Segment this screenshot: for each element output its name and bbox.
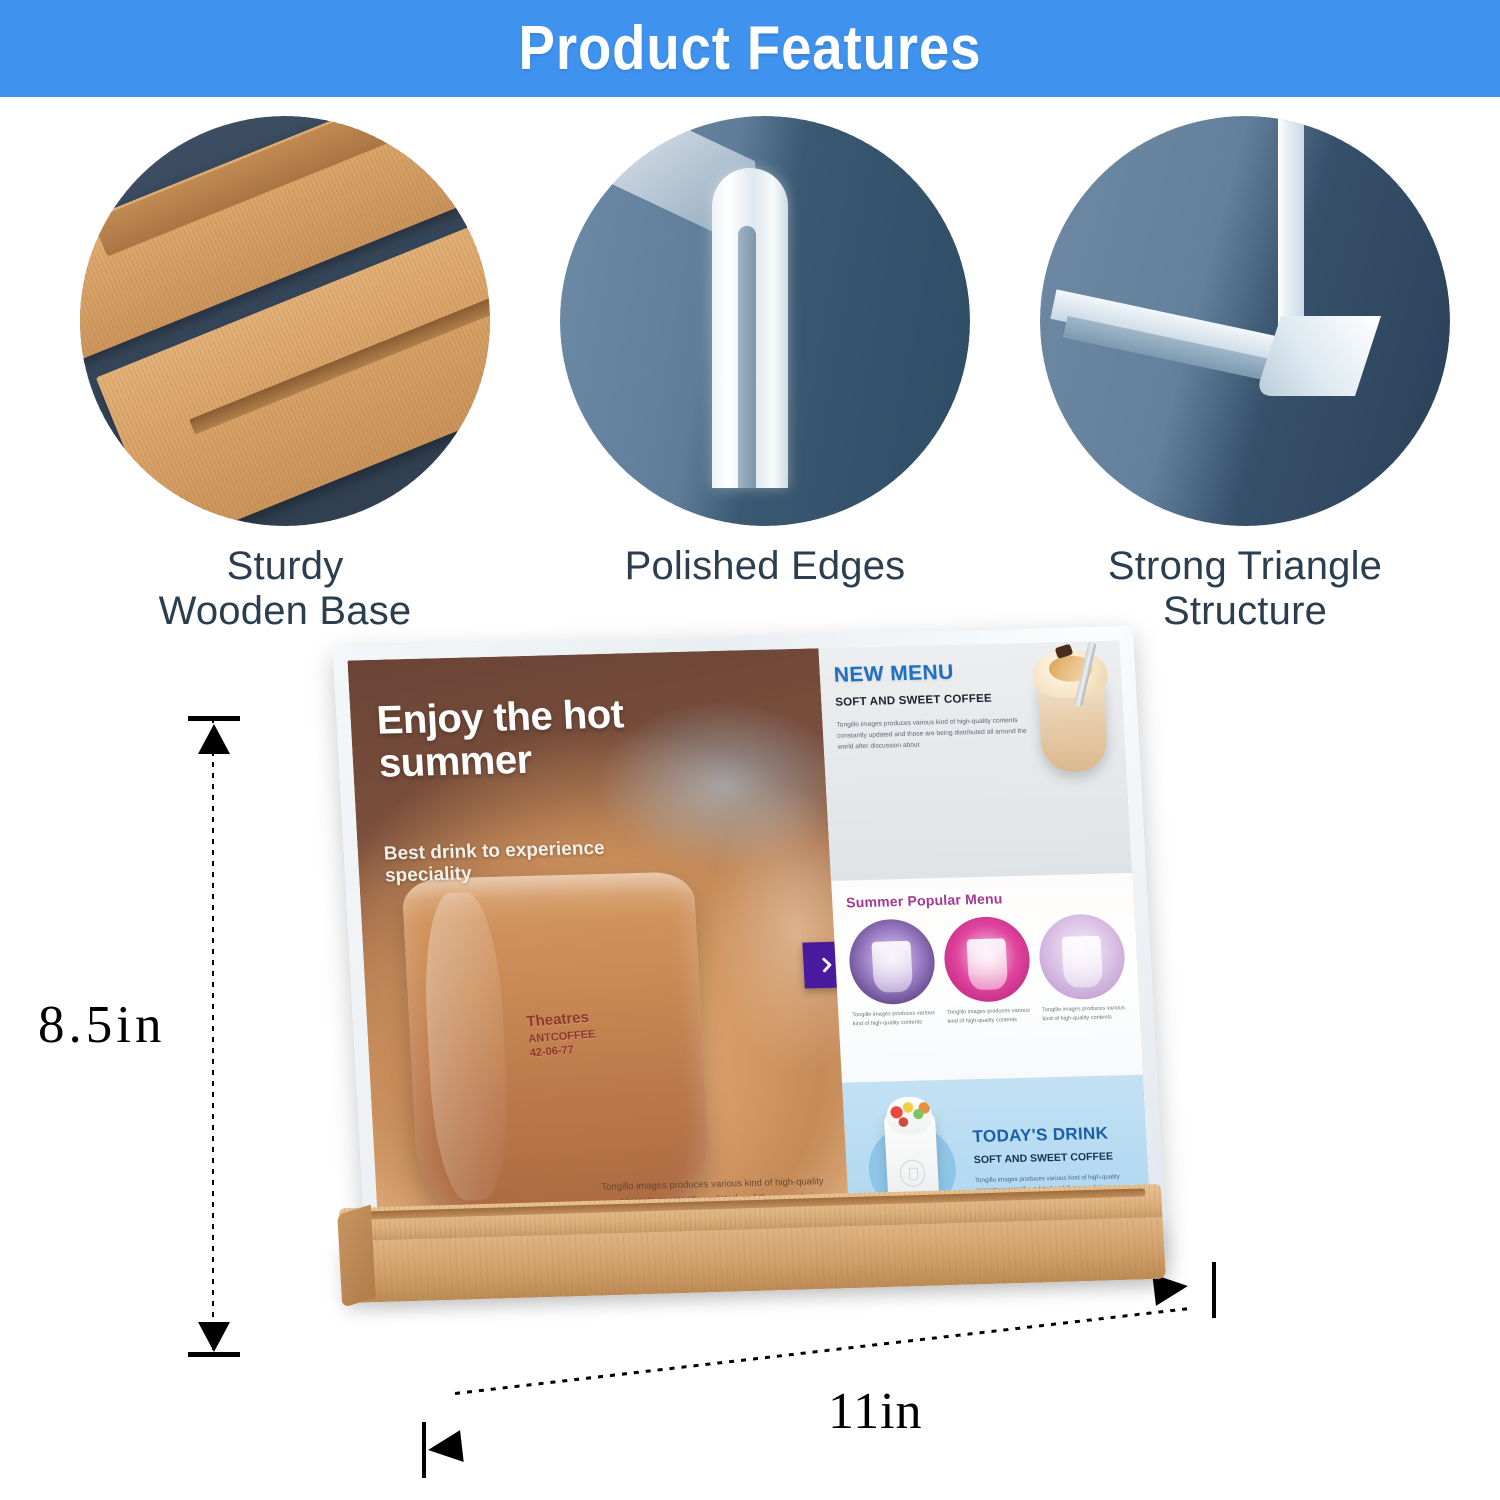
latte-photo <box>1021 640 1125 786</box>
drink-photo-purple <box>847 918 937 1005</box>
todays-drink-title: TODAY'S DRINK <box>972 1123 1135 1147</box>
summer-menu-item: Tongillo images produces various kind of… <box>847 918 938 1029</box>
product-photo: Theatres ANTCOFFEE 42-06-77 Enjoy the ho… <box>332 626 1222 1426</box>
drink-photo-magenta <box>942 915 1032 1002</box>
arrow-up-icon <box>198 724 230 754</box>
feature-label-wooden-base: Sturdy Wooden Base <box>159 544 412 634</box>
feature-label-line1: Sturdy <box>159 544 412 589</box>
glass-print-text: Theatres ANTCOFFEE 42-06-77 <box>526 1007 598 1060</box>
fruit-topping <box>886 1096 933 1136</box>
drink-caption: Tongillo images produces various kind of… <box>947 1006 1033 1026</box>
wooden-base <box>339 1184 1167 1324</box>
section-summer-popular-menu: Summer Popular Menu Tongillo images prod… <box>831 873 1143 1083</box>
acrylic-edge-closeup-icon <box>560 116 970 526</box>
height-label: 8.5in <box>38 995 165 1055</box>
poster-headline: Enjoy the hot summer <box>375 689 766 785</box>
feature-strong-triangle-structure: Strong Triangle Structure <box>1010 108 1480 653</box>
acrylic-corner-closeup-icon <box>1040 116 1450 526</box>
feature-label-polished-edges: Polished Edges <box>625 544 906 589</box>
base-left-end <box>337 1204 375 1308</box>
drink-photo-pink <box>1037 913 1127 1000</box>
height-cap-bottom <box>188 1352 240 1357</box>
poster-insert: Theatres ANTCOFFEE 42-06-77 Enjoy the ho… <box>347 640 1152 1271</box>
feature-row: Sturdy Wooden Base Polished Edges <box>0 108 1500 653</box>
cup-logo-icon <box>900 1160 926 1187</box>
feature-label-line1: Strong Triangle <box>1108 544 1382 589</box>
wood-closeup-icon <box>80 116 490 526</box>
height-cap-top <box>188 716 240 721</box>
page-title: Product Features <box>519 13 982 84</box>
feature-image-triangle-structure <box>1040 116 1450 526</box>
feature-label-line1: Polished Edges <box>625 544 906 589</box>
drink-caption: Tongillo images produces various kind of… <box>852 1009 938 1029</box>
poster-right-panel: NEW MENU SOFT AND SWEET COFFEE Tongillo … <box>818 640 1152 1259</box>
todays-drink-subtitle: SOFT AND SWEET COFFEE <box>974 1150 1136 1168</box>
drink-caption: Tongillo images produces various kind of… <box>1042 1004 1128 1024</box>
feature-image-polished-edges <box>560 116 970 526</box>
summer-menu-title: Summer Popular Menu <box>846 887 1122 910</box>
feature-polished-edges: Polished Edges <box>530 108 1000 653</box>
poster-subheadline: Best drink to experience speciality <box>383 836 677 889</box>
width-label: 11in <box>828 1382 923 1441</box>
summer-menu-items: Tongillo images produces various kind of… <box>847 913 1128 1029</box>
feature-image-wooden-base <box>80 116 490 526</box>
width-cap-right <box>1212 1262 1216 1318</box>
summer-menu-item: Tongillo images produces various kind of… <box>942 915 1033 1026</box>
arrow-left-icon <box>426 1430 463 1466</box>
height-dotted-line <box>212 718 214 1354</box>
poster-left-panel: Theatres ANTCOFFEE 42-06-77 Enjoy the ho… <box>347 648 851 1271</box>
section-new-menu: NEW MENU SOFT AND SWEET COFFEE Tongillo … <box>818 640 1132 880</box>
feature-sturdy-wooden-base: Sturdy Wooden Base <box>50 108 520 653</box>
width-cap-left <box>422 1422 426 1478</box>
header-banner: Product Features <box>0 0 1500 97</box>
arrow-down-icon <box>198 1322 230 1352</box>
summer-menu-item: Tongillo images produces various kind of… <box>1037 913 1128 1024</box>
new-menu-body: Tongillo images produces various kind of… <box>836 715 1034 754</box>
feature-label-triangle-structure: Strong Triangle Structure <box>1108 544 1382 634</box>
